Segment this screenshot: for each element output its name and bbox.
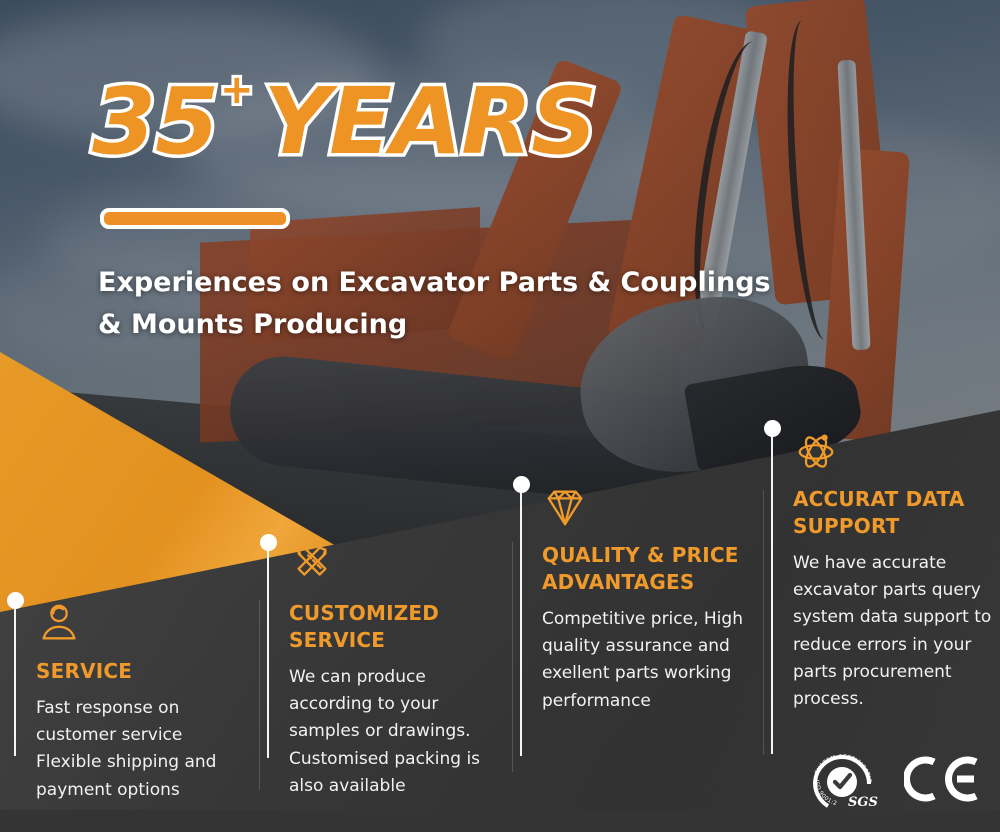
timeline-stem-line (771, 434, 773, 754)
feature-item-data-support: ACCURAT DATA SUPPORT We have accurate ex… (771, 428, 1000, 713)
feature-list: SERVICE Fast response on customer servic… (0, 0, 1000, 832)
customer-support-icon (36, 600, 82, 646)
feature-title: ACCURAT DATA SUPPORT (793, 486, 1000, 540)
feature-item-quality-price: QUALITY & PRICE ADVANTAGES Competitive p… (520, 484, 768, 715)
feature-title: CUSTOMIZED SERVICE (289, 600, 499, 654)
certification-logos: SYSTEM CERTIFICATION ISO 9001:2000 SGS (806, 748, 982, 810)
feature-item-customized-service: CUSTOMIZED SERVICE We can produce accord… (267, 542, 515, 800)
atom-icon (793, 428, 839, 474)
feature-title: SERVICE (36, 658, 246, 685)
timeline-stem-line (14, 606, 16, 756)
timeline-stem-line (267, 548, 269, 758)
feature-body: Competitive price, High quality assuranc… (542, 606, 750, 715)
sgs-iso-badge-icon: SYSTEM CERTIFICATION ISO 9001:2000 SGS (806, 748, 878, 810)
feature-title: QUALITY & PRICE ADVANTAGES (542, 542, 752, 596)
feature-body: We have accurate excavator parts query s… (793, 550, 1000, 713)
timeline-stem-line (520, 490, 522, 756)
ce-mark-icon (904, 753, 982, 805)
feature-body: We can produce according to your samples… (289, 664, 497, 800)
promo-banner: 35 + YEARS Experiences on Excavator Part… (0, 0, 1000, 832)
feature-body: Fast response on customer service Flexib… (36, 695, 244, 804)
pencil-ruler-icon (289, 542, 335, 588)
feature-item-service: SERVICE Fast response on customer servic… (14, 600, 262, 804)
svg-text:SGS: SGS (848, 795, 878, 810)
diamond-icon (542, 484, 588, 530)
